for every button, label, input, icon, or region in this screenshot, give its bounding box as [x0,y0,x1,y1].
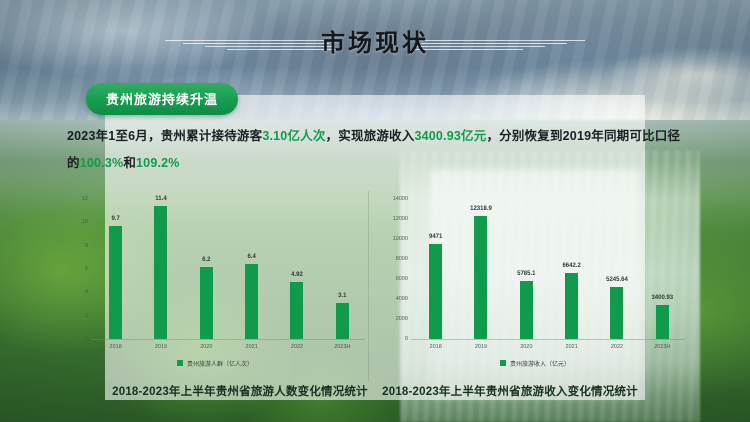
x-axis-tick: 2022 [598,344,636,350]
chart-visitors-yaxis: 121086420 [55,199,91,339]
x-axis-tick: 2021 [553,344,591,350]
chart-revenue-caption: 2018-2023年上半年贵州省旅游收入变化情况统计 [375,383,645,401]
y-axis-tick: 12 [82,196,88,202]
bar: 3400.93 [656,305,669,339]
bar: 9.7 [109,226,122,339]
summary-highlight-visitors: 3.10亿人次 [262,129,325,143]
bar-slot: 9471 [417,199,455,339]
bar: 3.1 [336,303,349,339]
bar-slot: 12318.9 [462,199,500,339]
chart-captions: 2018-2023年上半年贵州省旅游人数变化情况统计 2018-2023年上半年… [105,383,645,401]
bar: 5245.64 [610,287,623,339]
chart-visitors-baseline [91,339,365,340]
bar: 6.2 [200,267,213,339]
y-axis-tick: 0 [405,336,408,342]
chart-revenue-plot: 947112318.95785.16642.25245.643400.93 [413,199,685,339]
bar-value-label: 3400.93 [651,295,673,301]
bar-slot: 3400.93 [643,199,681,339]
y-axis-tick: 10000 [393,236,408,242]
y-axis-tick: 4000 [396,296,408,302]
section-badge: 贵州旅游持续升温 [86,83,238,115]
y-axis-tick: 4 [85,289,88,295]
summary-text-4: 和 [123,156,136,170]
legend-swatch-icon [177,360,183,366]
bar: 6642.2 [565,273,578,339]
bar-slot: 6.2 [187,199,225,339]
chart-visitors-legend: 贵州旅游人群（亿人次） [55,357,375,369]
bar-slot: 6.4 [233,199,271,339]
bar-slot: 6642.2 [553,199,591,339]
chart-visitors-xaxis: 201820192020202120222023H [93,341,365,353]
y-axis-tick: 2 [85,313,88,319]
content-panel: 2023年1至6月，贵州累计接待游客3.10亿人次，实现旅游收入3400.93亿… [105,95,645,400]
bar-slot: 3.1 [323,199,361,339]
bar: 5785.1 [520,281,533,339]
page-title-container: 市场现状 [0,24,750,64]
bar-value-label: 5245.64 [606,277,628,283]
summary-paragraph: 2023年1至6月，贵州累计接待游客3.10亿人次，实现旅游收入3400.93亿… [67,123,683,177]
y-axis-tick: 0 [85,336,88,342]
y-axis-tick: 12000 [393,216,408,222]
chart-revenue-legend-label: 贵州旅游收入（亿元） [510,359,570,368]
x-axis-tick: 2020 [187,344,225,350]
summary-text-1: 2023年1至6月，贵州累计接待游客 [67,129,262,143]
x-axis-tick: 2021 [233,344,271,350]
y-axis-tick: 2000 [396,316,408,322]
x-axis-tick: 2022 [278,344,316,350]
bar-value-label: 12318.9 [470,206,492,212]
bar-value-label: 6.2 [202,257,210,263]
summary-text-2: ，实现旅游收入 [326,129,415,143]
x-axis-tick: 2023H [323,344,361,350]
x-axis-tick: 2019 [142,344,180,350]
bar-value-label: 6.4 [247,254,255,260]
chart-visitors-caption: 2018-2023年上半年贵州省旅游人数变化情况统计 [105,383,375,401]
bar: 12318.9 [474,216,487,339]
bar-value-label: 6642.2 [562,263,580,269]
chart-revenue-xaxis: 201820192020202120222023H [413,341,685,353]
bar-value-label: 9471 [429,234,442,240]
chart-visitors: 121086420 9.711.46.26.44.923.1 201820192… [55,191,375,381]
bar-value-label: 9.7 [111,216,119,222]
content-panel-inner: 2023年1至6月，贵州累计接待游客3.10亿人次，实现旅游收入3400.93亿… [105,95,645,400]
x-axis-tick: 2020 [507,344,545,350]
charts-container: 121086420 9.711.46.26.44.923.1 201820192… [55,191,695,381]
y-axis-tick: 6000 [396,276,408,282]
summary-highlight-pct1: 100.3% [80,156,124,170]
x-axis-tick: 2018 [417,344,455,350]
chart-visitors-bars: 9.711.46.26.44.923.1 [93,199,365,339]
chart-revenue: 14000120001000080006000400020000 9471123… [375,191,695,381]
bar: 4.92 [290,282,303,339]
y-axis-tick: 8 [85,243,88,249]
summary-highlight-revenue: 3400.93亿元 [414,129,486,143]
y-axis-tick: 6 [85,266,88,272]
page-title: 市场现状 [307,32,443,56]
bar-slot: 9.7 [97,199,135,339]
bar-value-label: 3.1 [338,293,346,299]
chart-visitors-plot: 9.711.46.26.44.923.1 [93,199,365,339]
bar-slot: 11.4 [142,199,180,339]
legend-swatch-icon [500,360,506,366]
x-axis-tick: 2019 [462,344,500,350]
chart-revenue-baseline [411,339,685,340]
chart-revenue-legend: 贵州旅游收入（亿元） [375,357,695,369]
bar-slot: 5245.64 [598,199,636,339]
bar: 11.4 [154,206,167,339]
summary-highlight-pct2: 109.2% [136,156,180,170]
bar-slot: 5785.1 [507,199,545,339]
x-axis-tick: 2023H [643,344,681,350]
chart-visitors-legend-label: 贵州旅游人群（亿人次） [187,359,253,368]
x-axis-tick: 2018 [97,344,135,350]
bar: 9471 [429,244,442,339]
bar-slot: 4.92 [278,199,316,339]
bar-value-label: 11.4 [155,196,166,202]
slide-root: 市场现状 2023年1至6月，贵州累计接待游客3.10亿人次，实现旅游收入340… [0,0,750,422]
bar: 6.4 [245,264,258,339]
y-axis-tick: 14000 [393,196,408,202]
y-axis-tick: 8000 [396,256,408,262]
y-axis-tick: 10 [82,219,88,225]
bar-value-label: 5785.1 [517,271,535,277]
bar-value-label: 4.92 [291,272,303,278]
chart-revenue-yaxis: 14000120001000080006000400020000 [375,199,411,339]
chart-revenue-bars: 947112318.95785.16642.25245.643400.93 [413,199,685,339]
